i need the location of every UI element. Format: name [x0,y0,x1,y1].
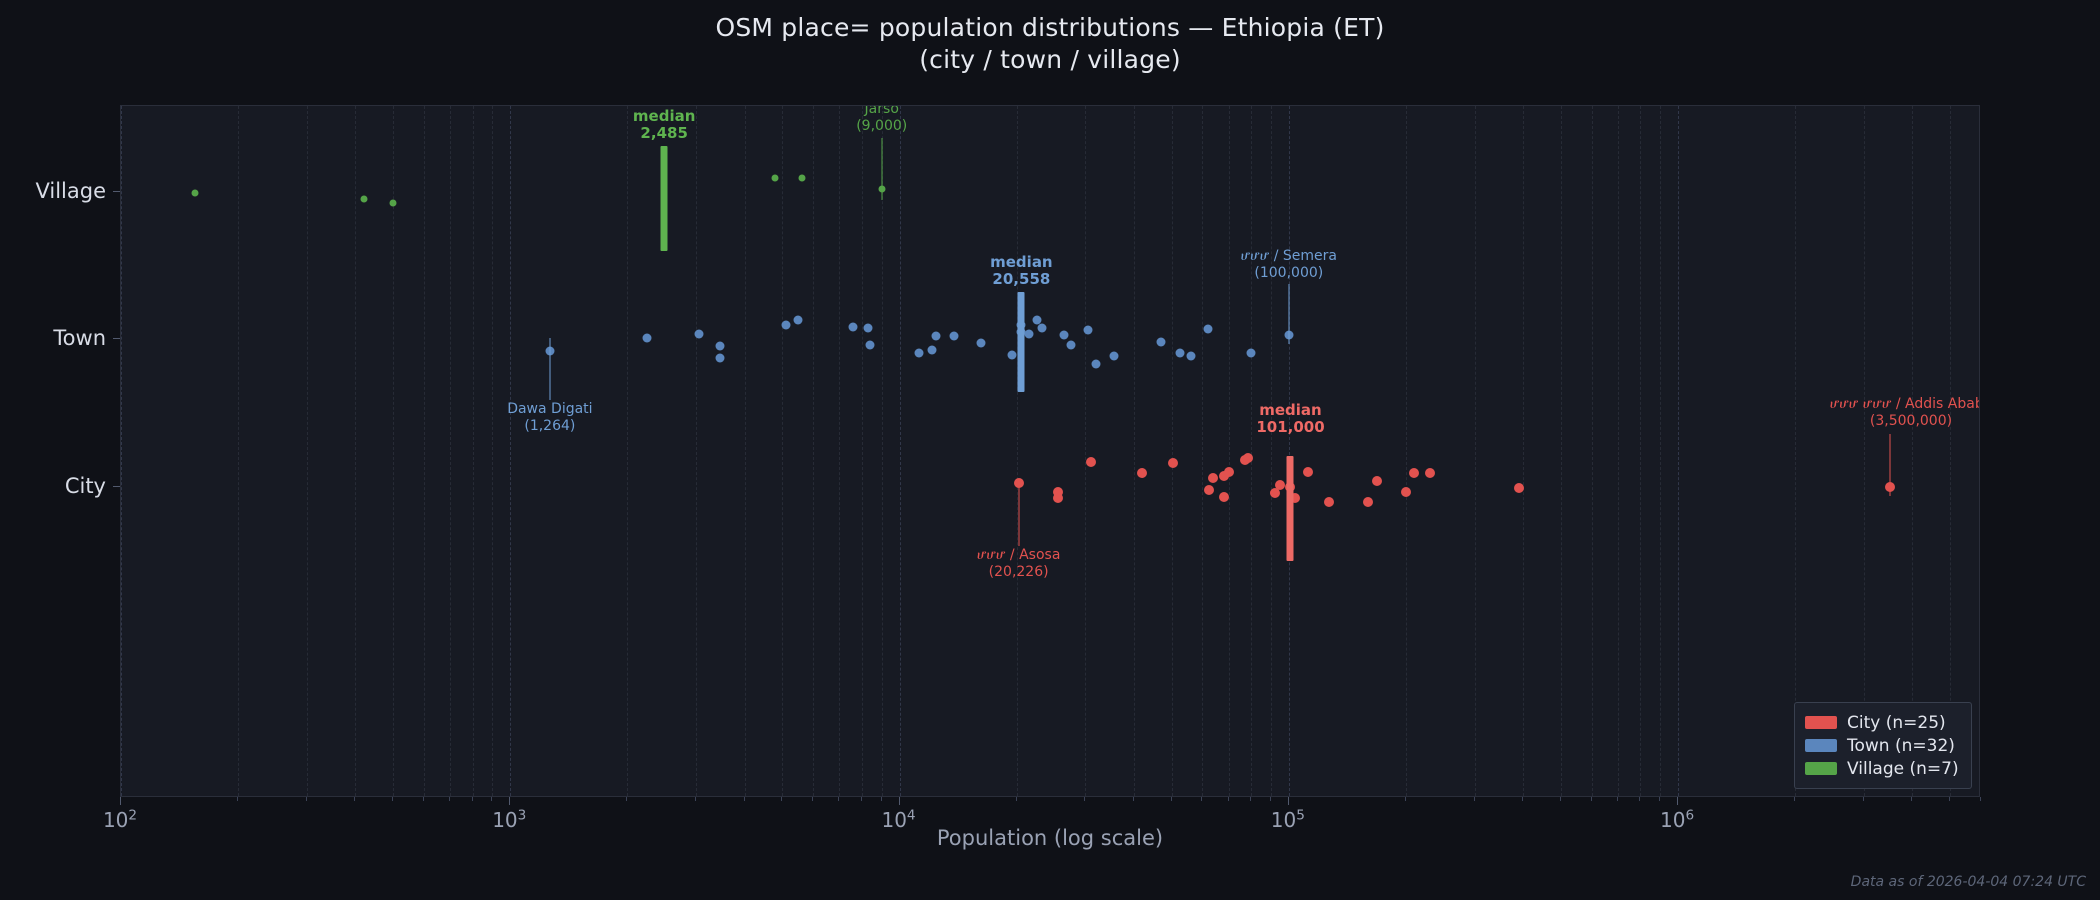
data-point [931,331,940,340]
grid-line [1202,106,1203,796]
data-point [1060,331,1069,340]
x-tick-minor [1405,797,1406,801]
grid-line [238,106,239,796]
x-tick-minor [354,797,355,801]
x-tick-minor [449,797,450,801]
x-tick-minor [1949,797,1950,801]
x-tick-minor [1084,797,1085,801]
x-tick-major [1677,797,1678,805]
x-tick-minor [1911,797,1912,801]
data-point [864,323,873,332]
x-tick-minor [423,797,424,801]
data-point [1084,326,1093,335]
chart-title: OSM place= population distributions — Et… [0,12,2100,76]
chart-legend: City (n=25)Town (n=32)Village (n=7) [1794,702,1972,789]
grid-line [1271,106,1272,796]
data-point [1363,497,1373,507]
x-tick-minor [1474,797,1475,801]
data-point [360,196,367,203]
data-point [694,330,703,339]
median-value: 101,000 [1256,419,1324,436]
x-tick-minor [881,797,882,801]
chart-title-line-1: OSM place= population distributions — Et… [0,12,2100,44]
x-tick-minor [1980,797,1981,801]
data-point [1168,458,1178,468]
data-point [1204,485,1214,495]
data-point [1219,492,1229,502]
annotation-leader-line [881,138,882,200]
x-tick-minor [472,797,473,801]
grid-line [1172,106,1173,796]
grid-line [1229,106,1230,796]
grid-line [839,106,840,796]
grid-line [1864,106,1865,796]
data-point [1186,351,1195,360]
x-tick-minor [695,797,696,801]
grid-line [1561,106,1562,796]
chart-figure: OSM place= population distributions — Et… [0,0,2100,900]
grid-line [393,106,394,796]
data-point [914,348,923,357]
x-tick-minor [1250,797,1251,801]
data-point [1409,468,1419,478]
legend-item-city[interactable]: City (n=25) [1805,711,1959,734]
x-tick-minor [237,797,238,801]
annotation-place-name: Jarso [856,105,907,118]
grid-line [696,106,697,796]
x-tick-minor [392,797,393,801]
data-point [1243,453,1253,463]
y-tick-label-city: City [0,474,106,498]
x-tick-minor [1133,797,1134,801]
annotation-label: Dawa Digati(1,264) [507,401,592,435]
median-label-city: median101,000 [1256,402,1324,437]
grid-line [745,106,746,796]
y-tick-mark [113,338,120,339]
x-tick-minor [781,797,782,801]
median-label-town: median20,558 [990,254,1052,289]
x-tick-minor [1171,797,1172,801]
data-point [798,175,805,182]
x-tick-major [899,797,900,805]
data-point [1208,473,1218,483]
annotation-place-value: (20,226) [977,564,1061,581]
x-tick-minor [1522,797,1523,801]
data-point [977,339,986,348]
grid-line [121,106,122,796]
data-point [1324,497,1334,507]
legend-swatch-city [1805,716,1837,729]
grid-line [1795,106,1796,796]
annotation-leader-line [549,338,550,400]
grid-line [492,106,493,796]
grid-line [1678,106,1679,796]
x-tick-minor [626,797,627,801]
data-point [192,190,199,197]
data-point [643,333,652,342]
grid-line [1475,106,1476,796]
grid-line [882,106,883,796]
grid-line [900,106,901,796]
data-point [1203,325,1212,334]
data-point [866,341,875,350]
data-point [1137,468,1147,478]
x-tick-minor [838,797,839,801]
data-point [1247,349,1256,358]
grid-line [782,106,783,796]
x-tick-minor [861,797,862,801]
grid-line [1950,106,1951,796]
x-tick-major [509,797,510,805]
x-tick-minor [491,797,492,801]
annotation-label: ሆሆሆ / Asosa(20,226) [977,547,1061,581]
data-point [1092,360,1101,369]
annotation-place-value: (1,264) [507,418,592,435]
data-point [1401,487,1411,497]
plot-area: median2,485median20,558median101,000ሆሆሆ … [120,105,1980,797]
annotation-leader-line [1889,434,1890,496]
data-point [1037,323,1046,332]
grid-line [450,106,451,796]
median-bar-village [661,146,668,251]
legend-item-town[interactable]: Town (n=32) [1805,734,1959,757]
data-point [390,199,397,206]
grid-line [1912,106,1913,796]
legend-item-village[interactable]: Village (n=7) [1805,757,1959,780]
data-point [1157,338,1166,347]
data-point [781,321,790,330]
grid-line [1406,106,1407,796]
median-bar-town [1018,292,1025,392]
legend-label: City (n=25) [1847,713,1946,733]
data-point [1514,483,1524,493]
median-label-village: median2,485 [633,108,695,143]
x-tick-minor [1016,797,1017,801]
data-point [927,346,936,355]
data-point [1066,341,1075,350]
grid-line [1289,106,1290,796]
annotation-place-value: (100,000) [1241,265,1337,282]
data-point [794,316,803,325]
grid-line [1251,106,1252,796]
annotation-leader-line [1288,284,1289,344]
data-point [1425,468,1435,478]
annotation-place-name: ሆሆሆ / Asosa [977,547,1061,564]
data-point [1303,467,1313,477]
x-tick-minor [812,797,813,801]
annotation-label: ሆሆሆ ሆሆሆ / Addis Ababa(3,500,000) [1830,396,1980,430]
x-axis-title: Population (log scale) [120,826,1980,850]
annotation-place-name: Dawa Digati [507,401,592,418]
median-value: 2,485 [633,125,695,142]
grid-line [307,106,308,796]
y-tick-mark [113,486,120,487]
data-point [1024,330,1033,339]
data-point [1086,457,1096,467]
x-tick-major [120,797,121,805]
data-point [1008,351,1017,360]
x-tick-minor [1591,797,1592,801]
annotation-leader-line [1018,484,1019,546]
y-tick-label-village: Village [0,179,106,203]
grid-line [813,106,814,796]
data-point [949,331,958,340]
annotation-label: ሆሆሆ / Semera(100,000) [1241,248,1337,282]
grid-line [1640,106,1641,796]
data-point [715,353,724,362]
grid-line [1085,106,1086,796]
chart-title-line-2: (city / town / village) [0,44,2100,76]
grid-line [424,106,425,796]
data-point [1109,351,1118,360]
median-word: median [990,254,1052,271]
grid-line [1592,106,1593,796]
x-tick-minor [306,797,307,801]
legend-swatch-town [1805,739,1837,752]
data-point [1224,467,1234,477]
grid-line [1523,106,1524,796]
grid-line [862,106,863,796]
x-tick-minor [1617,797,1618,801]
x-tick-minor [1639,797,1640,801]
grid-line [1017,106,1018,796]
grid-line [1134,106,1135,796]
y-tick-mark [113,191,120,192]
data-point [1053,487,1063,497]
median-value: 20,558 [990,271,1052,288]
median-word: median [1256,402,1324,419]
median-bar-city [1287,456,1294,561]
x-tick-minor [1228,797,1229,801]
annotation-label: Jarso(9,000) [856,105,907,135]
data-point [1275,480,1285,490]
grid-line [355,106,356,796]
annotation-place-name: ሆሆሆ ሆሆሆ / Addis Ababa [1830,396,1980,413]
x-tick-minor [1863,797,1864,801]
data-point [772,175,779,182]
annotation-place-value: (3,500,000) [1830,413,1980,430]
footer-timestamp: Data as of 2026-04-04 07:24 UTC [1851,874,2086,890]
grid-line [473,106,474,796]
data-point [849,322,858,331]
data-point [1175,349,1184,358]
grid-line [510,106,511,796]
annotation-place-value: (9,000) [856,118,907,135]
legend-swatch-village [1805,762,1837,775]
x-tick-major [1288,797,1289,805]
y-tick-label-town: Town [0,326,106,350]
data-point [715,342,724,351]
median-word: median [633,108,695,125]
annotation-place-name: ሆሆሆ / Semera [1241,248,1337,265]
grid-line [1660,106,1661,796]
x-tick-minor [1270,797,1271,801]
legend-label: Town (n=32) [1847,736,1955,756]
data-point [1372,476,1382,486]
legend-label: Village (n=7) [1847,759,1959,779]
x-tick-minor [1560,797,1561,801]
x-tick-minor [1659,797,1660,801]
grid-line [1618,106,1619,796]
x-tick-minor [744,797,745,801]
x-tick-minor [1201,797,1202,801]
grid-line [627,106,628,796]
x-tick-minor [1794,797,1795,801]
